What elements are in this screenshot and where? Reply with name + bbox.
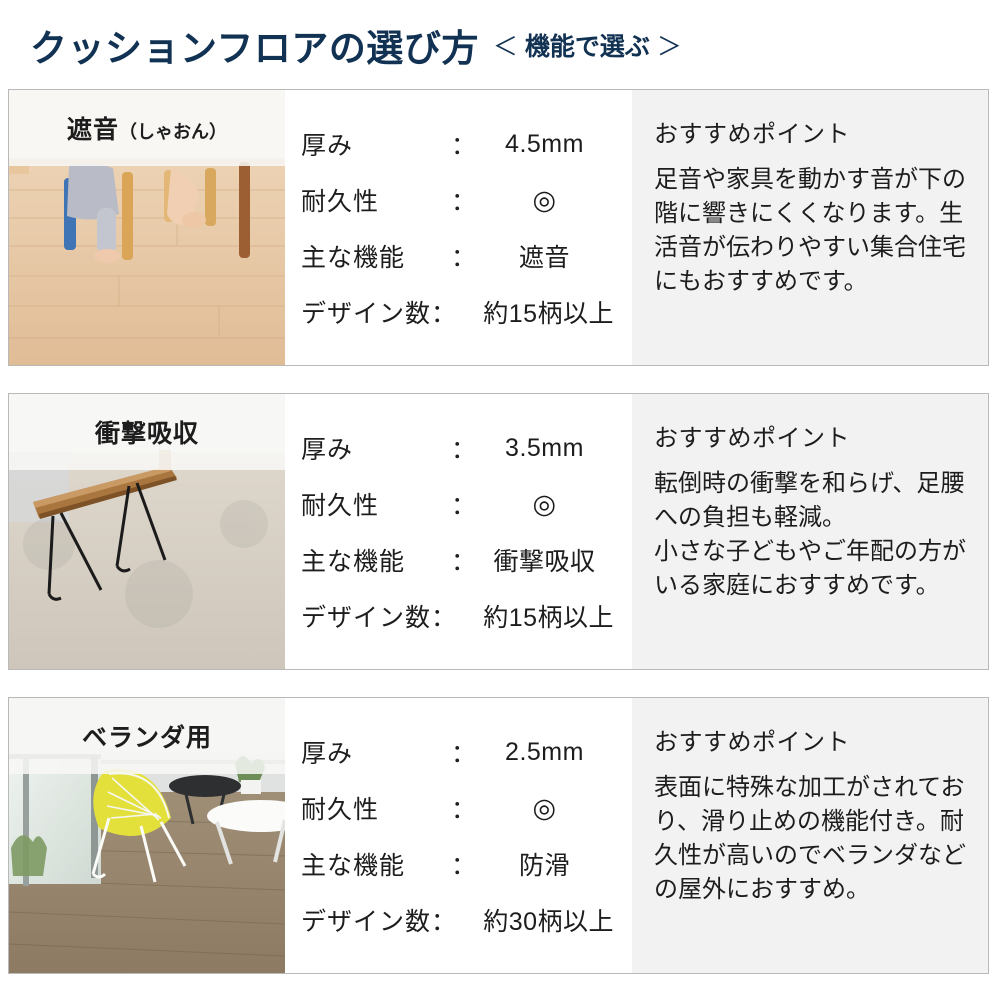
card-label-band: ベランダ用 bbox=[9, 698, 285, 774]
spec-key-durability: 耐久性 bbox=[301, 790, 451, 826]
spec-colon: ： bbox=[451, 486, 485, 522]
card-label: 衝撃吸収 bbox=[95, 414, 199, 450]
card-label: ベランダ用 bbox=[82, 718, 212, 754]
spec-colon: ： bbox=[451, 238, 485, 274]
page-title: クッションフロアの選び方 bbox=[30, 18, 479, 72]
spec-value-durability: ◎ bbox=[485, 185, 632, 216]
spec-key-design-count: デザイン数 bbox=[301, 902, 431, 938]
spec-colon: ： bbox=[451, 182, 485, 218]
spec-value-durability: ◎ bbox=[485, 489, 632, 520]
spec-key-thickness: 厚み bbox=[301, 734, 451, 770]
spec-key-durability: 耐久性 bbox=[301, 182, 451, 218]
bracket-close-icon: ＞ bbox=[657, 33, 682, 61]
spec-row-durability: 耐久性 ： ◎ bbox=[301, 780, 632, 836]
card-point-panel: おすすめポイント 転倒時の衝撃を和らげ、足腰への負担も軽減。 小さな子どもやご年… bbox=[632, 394, 988, 669]
page-subtitle-text: 機能で選ぶ bbox=[525, 33, 650, 61]
spec-key-durability: 耐久性 bbox=[301, 486, 451, 522]
spec-row-durability: 耐久性 ： ◎ bbox=[301, 476, 632, 532]
point-title: おすすめポイント bbox=[654, 722, 966, 757]
spec-value-thickness: 2.5mm bbox=[485, 738, 632, 767]
spec-value-design-count: 約15柄以上 bbox=[465, 598, 632, 634]
point-body: 足音や家具を動かす音が下の階に響きにくくなります。生活音が伝わりやすい集合住宅に… bbox=[654, 163, 966, 299]
point-body: 表面に特殊な加工がされており、滑り止めの機能付き。耐久性が高いのでベランダなどの… bbox=[654, 771, 966, 907]
card-label-ruby: （しゃおん） bbox=[119, 122, 227, 142]
product-card[interactable]: ベランダ用 厚み ： 2.5mm 耐久性 ： ◎ 主な機能 ： 防滑 デザイン数 bbox=[8, 697, 989, 974]
spec-key-main-function: 主な機能 bbox=[301, 238, 451, 274]
bracket-open-icon: ＜ bbox=[493, 33, 518, 61]
spec-row-main-function: 主な機能 ： 防滑 bbox=[301, 836, 632, 892]
spec-row-thickness: 厚み ： 4.5mm bbox=[301, 116, 632, 172]
spec-key-thickness: 厚み bbox=[301, 430, 451, 466]
card-label-main: ベランダ用 bbox=[82, 724, 212, 752]
spec-key-main-function: 主な機能 bbox=[301, 542, 451, 578]
spec-value-design-count: 約15柄以上 bbox=[465, 294, 632, 330]
spec-value-main-function: 衝撃吸収 bbox=[485, 542, 632, 578]
spec-row-main-function: 主な機能 ： 衝撃吸収 bbox=[301, 532, 632, 588]
infographic-page: クッションフロアの選び方 ＜ 機能で選ぶ ＞ bbox=[0, 0, 1000, 1000]
card-label-band: 遮音（しゃおん） bbox=[9, 90, 285, 166]
spec-colon: ： bbox=[451, 126, 485, 162]
spec-row-thickness: 厚み ： 3.5mm bbox=[301, 420, 632, 476]
spec-colon: ： bbox=[431, 902, 465, 938]
card-specs: 厚み ： 4.5mm 耐久性 ： ◎ 主な機能 ： 遮音 デザイン数 ： 約15… bbox=[285, 90, 632, 365]
card-photo: 遮音（しゃおん） bbox=[9, 90, 285, 365]
spec-key-design-count: デザイン数 bbox=[301, 294, 431, 330]
spec-row-design-count: デザイン数 ： 約15柄以上 bbox=[301, 588, 632, 644]
card-point-panel: おすすめポイント 足音や家具を動かす音が下の階に響きにくくなります。生活音が伝わ… bbox=[632, 90, 988, 365]
spec-colon: ： bbox=[451, 542, 485, 578]
card-label-band: 衝撃吸収 bbox=[9, 394, 285, 470]
spec-value-main-function: 防滑 bbox=[485, 846, 632, 882]
point-title: おすすめポイント bbox=[654, 114, 966, 149]
spec-value-thickness: 4.5mm bbox=[485, 130, 632, 159]
card-point-panel: おすすめポイント 表面に特殊な加工がされており、滑り止めの機能付き。耐久性が高い… bbox=[632, 698, 988, 973]
spec-row-design-count: デザイン数 ： 約15柄以上 bbox=[301, 284, 632, 340]
spec-colon: ： bbox=[431, 294, 465, 330]
card-photo: 衝撃吸収 bbox=[9, 394, 285, 669]
spec-colon: ： bbox=[451, 790, 485, 826]
spec-colon: ： bbox=[451, 734, 485, 770]
card-photo: ベランダ用 bbox=[9, 698, 285, 973]
page-header: クッションフロアの選び方 ＜ 機能で選ぶ ＞ bbox=[0, 0, 1000, 89]
card-specs: 厚み ： 3.5mm 耐久性 ： ◎ 主な機能 ： 衝撃吸収 デザイン数 ： 約… bbox=[285, 394, 632, 669]
point-title: おすすめポイント bbox=[654, 418, 966, 453]
product-card[interactable]: 衝撃吸収 厚み ： 3.5mm 耐久性 ： ◎ 主な機能 ： 衝撃吸収 デザイン… bbox=[8, 393, 989, 670]
spec-value-thickness: 3.5mm bbox=[485, 434, 632, 463]
spec-colon: ： bbox=[451, 846, 485, 882]
spec-key-design-count: デザイン数 bbox=[301, 598, 431, 634]
page-subtitle: ＜ 機能で選ぶ ＞ bbox=[493, 27, 682, 63]
spec-value-durability: ◎ bbox=[485, 793, 632, 824]
spec-colon: ： bbox=[431, 598, 465, 634]
spec-value-design-count: 約30柄以上 bbox=[465, 902, 632, 938]
spec-row-durability: 耐久性 ： ◎ bbox=[301, 172, 632, 228]
card-label-main: 遮音 bbox=[67, 116, 119, 144]
card-specs: 厚み ： 2.5mm 耐久性 ： ◎ 主な機能 ： 防滑 デザイン数 ： 約30… bbox=[285, 698, 632, 973]
card-label: 遮音（しゃおん） bbox=[67, 110, 227, 146]
spec-row-design-count: デザイン数 ： 約30柄以上 bbox=[301, 892, 632, 948]
spec-colon: ： bbox=[451, 430, 485, 466]
spec-row-main-function: 主な機能 ： 遮音 bbox=[301, 228, 632, 284]
spec-row-thickness: 厚み ： 2.5mm bbox=[301, 724, 632, 780]
spec-key-thickness: 厚み bbox=[301, 126, 451, 162]
point-body: 転倒時の衝撃を和らげ、足腰への負担も軽減。 小さな子どもやご年配の方がいる家庭に… bbox=[654, 467, 966, 603]
spec-key-main-function: 主な機能 bbox=[301, 846, 451, 882]
product-card[interactable]: 遮音（しゃおん） 厚み ： 4.5mm 耐久性 ： ◎ 主な機能 ： 遮音 デザ… bbox=[8, 89, 989, 366]
spec-value-main-function: 遮音 bbox=[485, 238, 632, 274]
card-label-main: 衝撃吸収 bbox=[95, 420, 199, 448]
